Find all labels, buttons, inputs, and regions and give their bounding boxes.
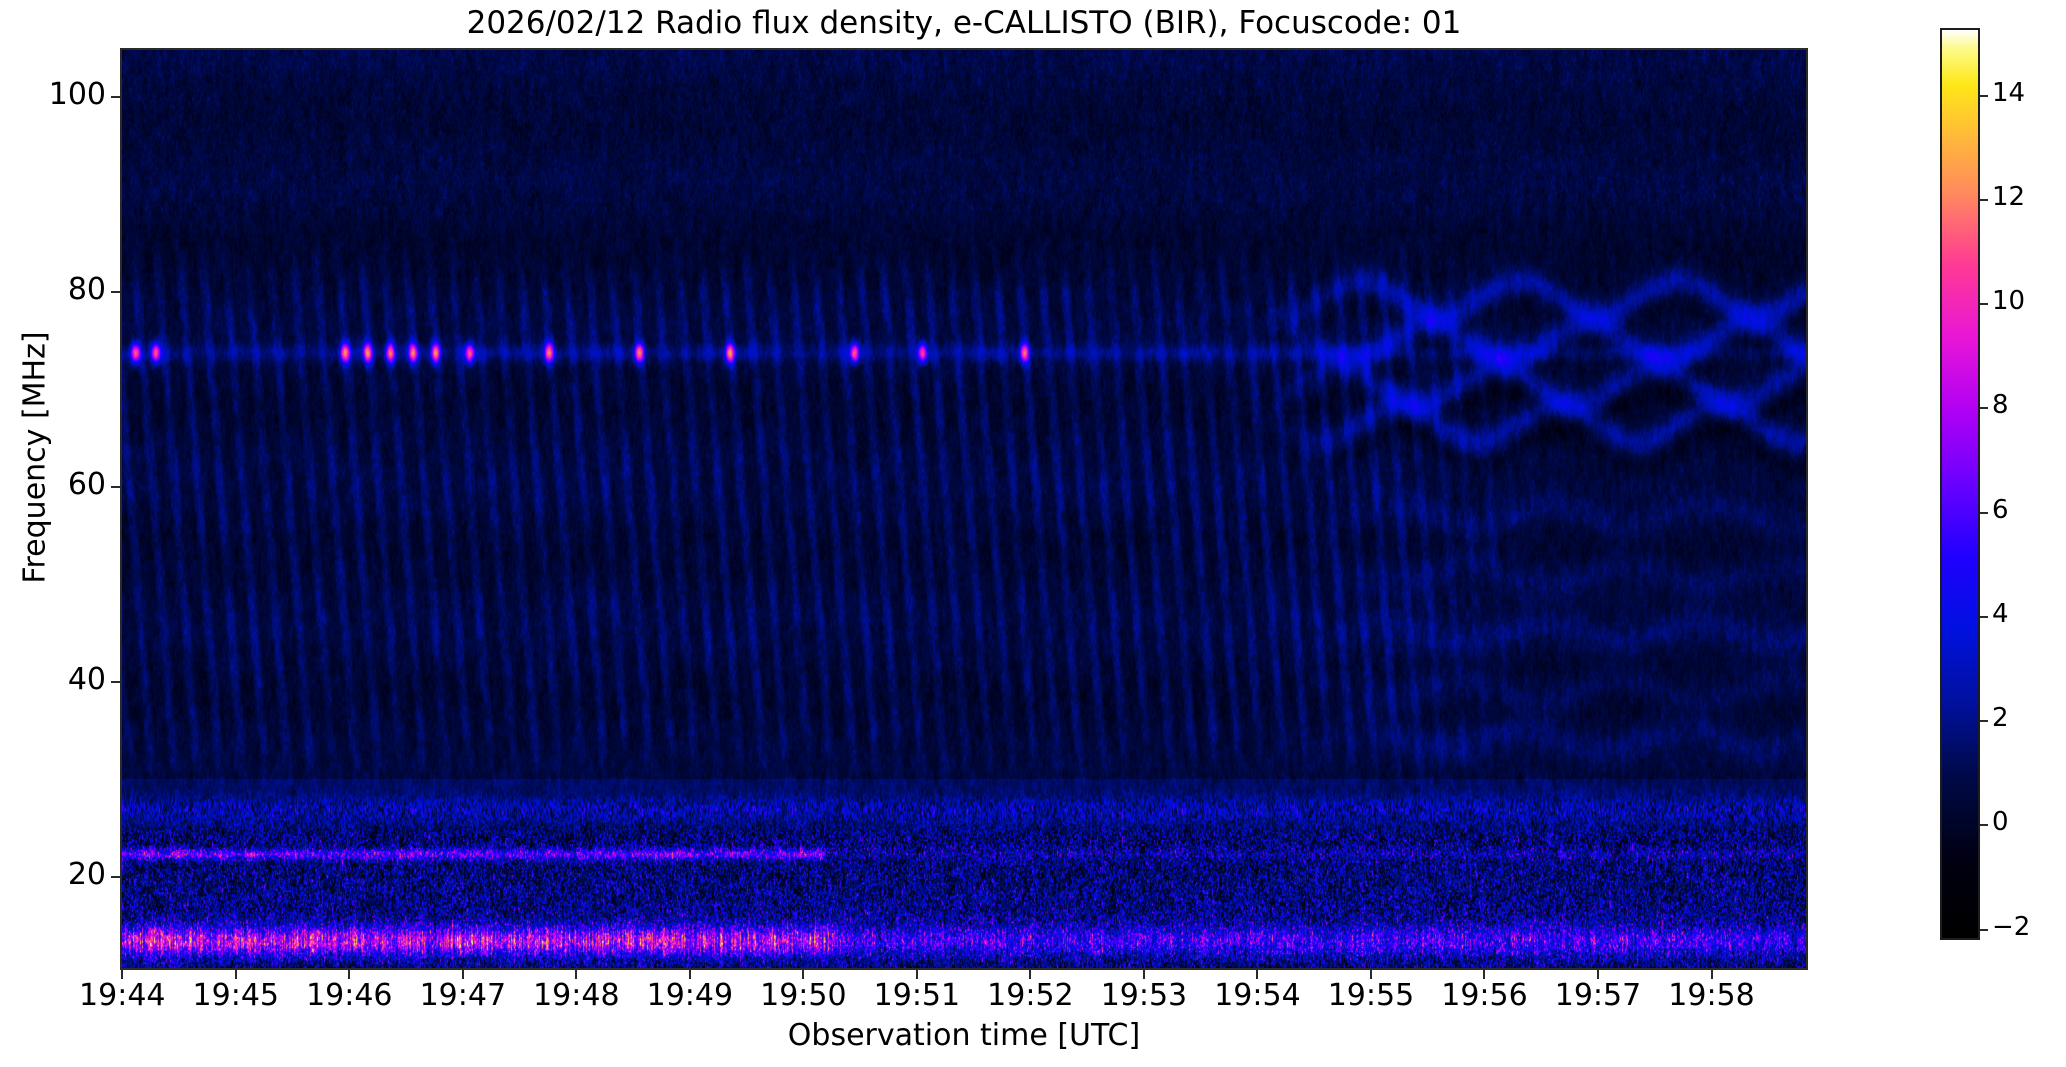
colorbar-tick-mark [1980, 95, 1988, 97]
colorbar-tick-label: 2 [1992, 703, 2062, 733]
colorbar-tick-label: 8 [1992, 390, 2062, 420]
y-tick-mark [111, 291, 120, 293]
y-tick-mark [111, 876, 120, 878]
colorbar-tick-mark [1980, 303, 1988, 305]
colorbar-tick-mark [1980, 720, 1988, 722]
x-axis-label: Observation time [UTC] [120, 1018, 1808, 1053]
colorbar-tick-label: 0 [1992, 807, 2062, 837]
y-tick-label: 60 [0, 467, 106, 502]
colorbar-gradient [1942, 30, 1978, 938]
colorbar-tick-label: −2 [1992, 912, 2062, 942]
y-tick-label: 100 [0, 77, 106, 112]
colorbar-tick-label: 4 [1992, 599, 2062, 629]
colorbar-tick-mark [1980, 512, 1988, 514]
colorbar-tick-label: 10 [1992, 286, 2062, 316]
y-tick-label: 40 [0, 662, 106, 697]
y-tick-label: 80 [0, 272, 106, 307]
colorbar-tick-label: 6 [1992, 495, 2062, 525]
colorbar-tick-mark [1980, 407, 1988, 409]
colorbar[interactable] [1940, 28, 1980, 940]
colorbar-tick-label: 12 [1992, 182, 2062, 212]
x-tick-label: 19:58 [1612, 978, 1812, 1013]
y-tick-label: 20 [0, 857, 106, 892]
spectrogram-image [122, 50, 1806, 968]
colorbar-tick-mark [1980, 929, 1988, 931]
colorbar-tick-mark [1980, 199, 1988, 201]
spectrogram-axes[interactable] [120, 48, 1808, 970]
colorbar-tick-mark [1980, 616, 1988, 618]
y-tick-mark [111, 96, 120, 98]
chart-title: 2026/02/12 Radio flux density, e-CALLIST… [120, 2, 1808, 44]
colorbar-tick-label: 14 [1992, 78, 2062, 108]
y-tick-mark [111, 486, 120, 488]
y-tick-mark [111, 681, 120, 683]
figure-canvas: 2026/02/12 Radio flux density, e-CALLIST… [0, 0, 2066, 1067]
colorbar-tick-mark [1980, 824, 1988, 826]
y-axis-label: Frequency [MHz] [18, 108, 53, 808]
